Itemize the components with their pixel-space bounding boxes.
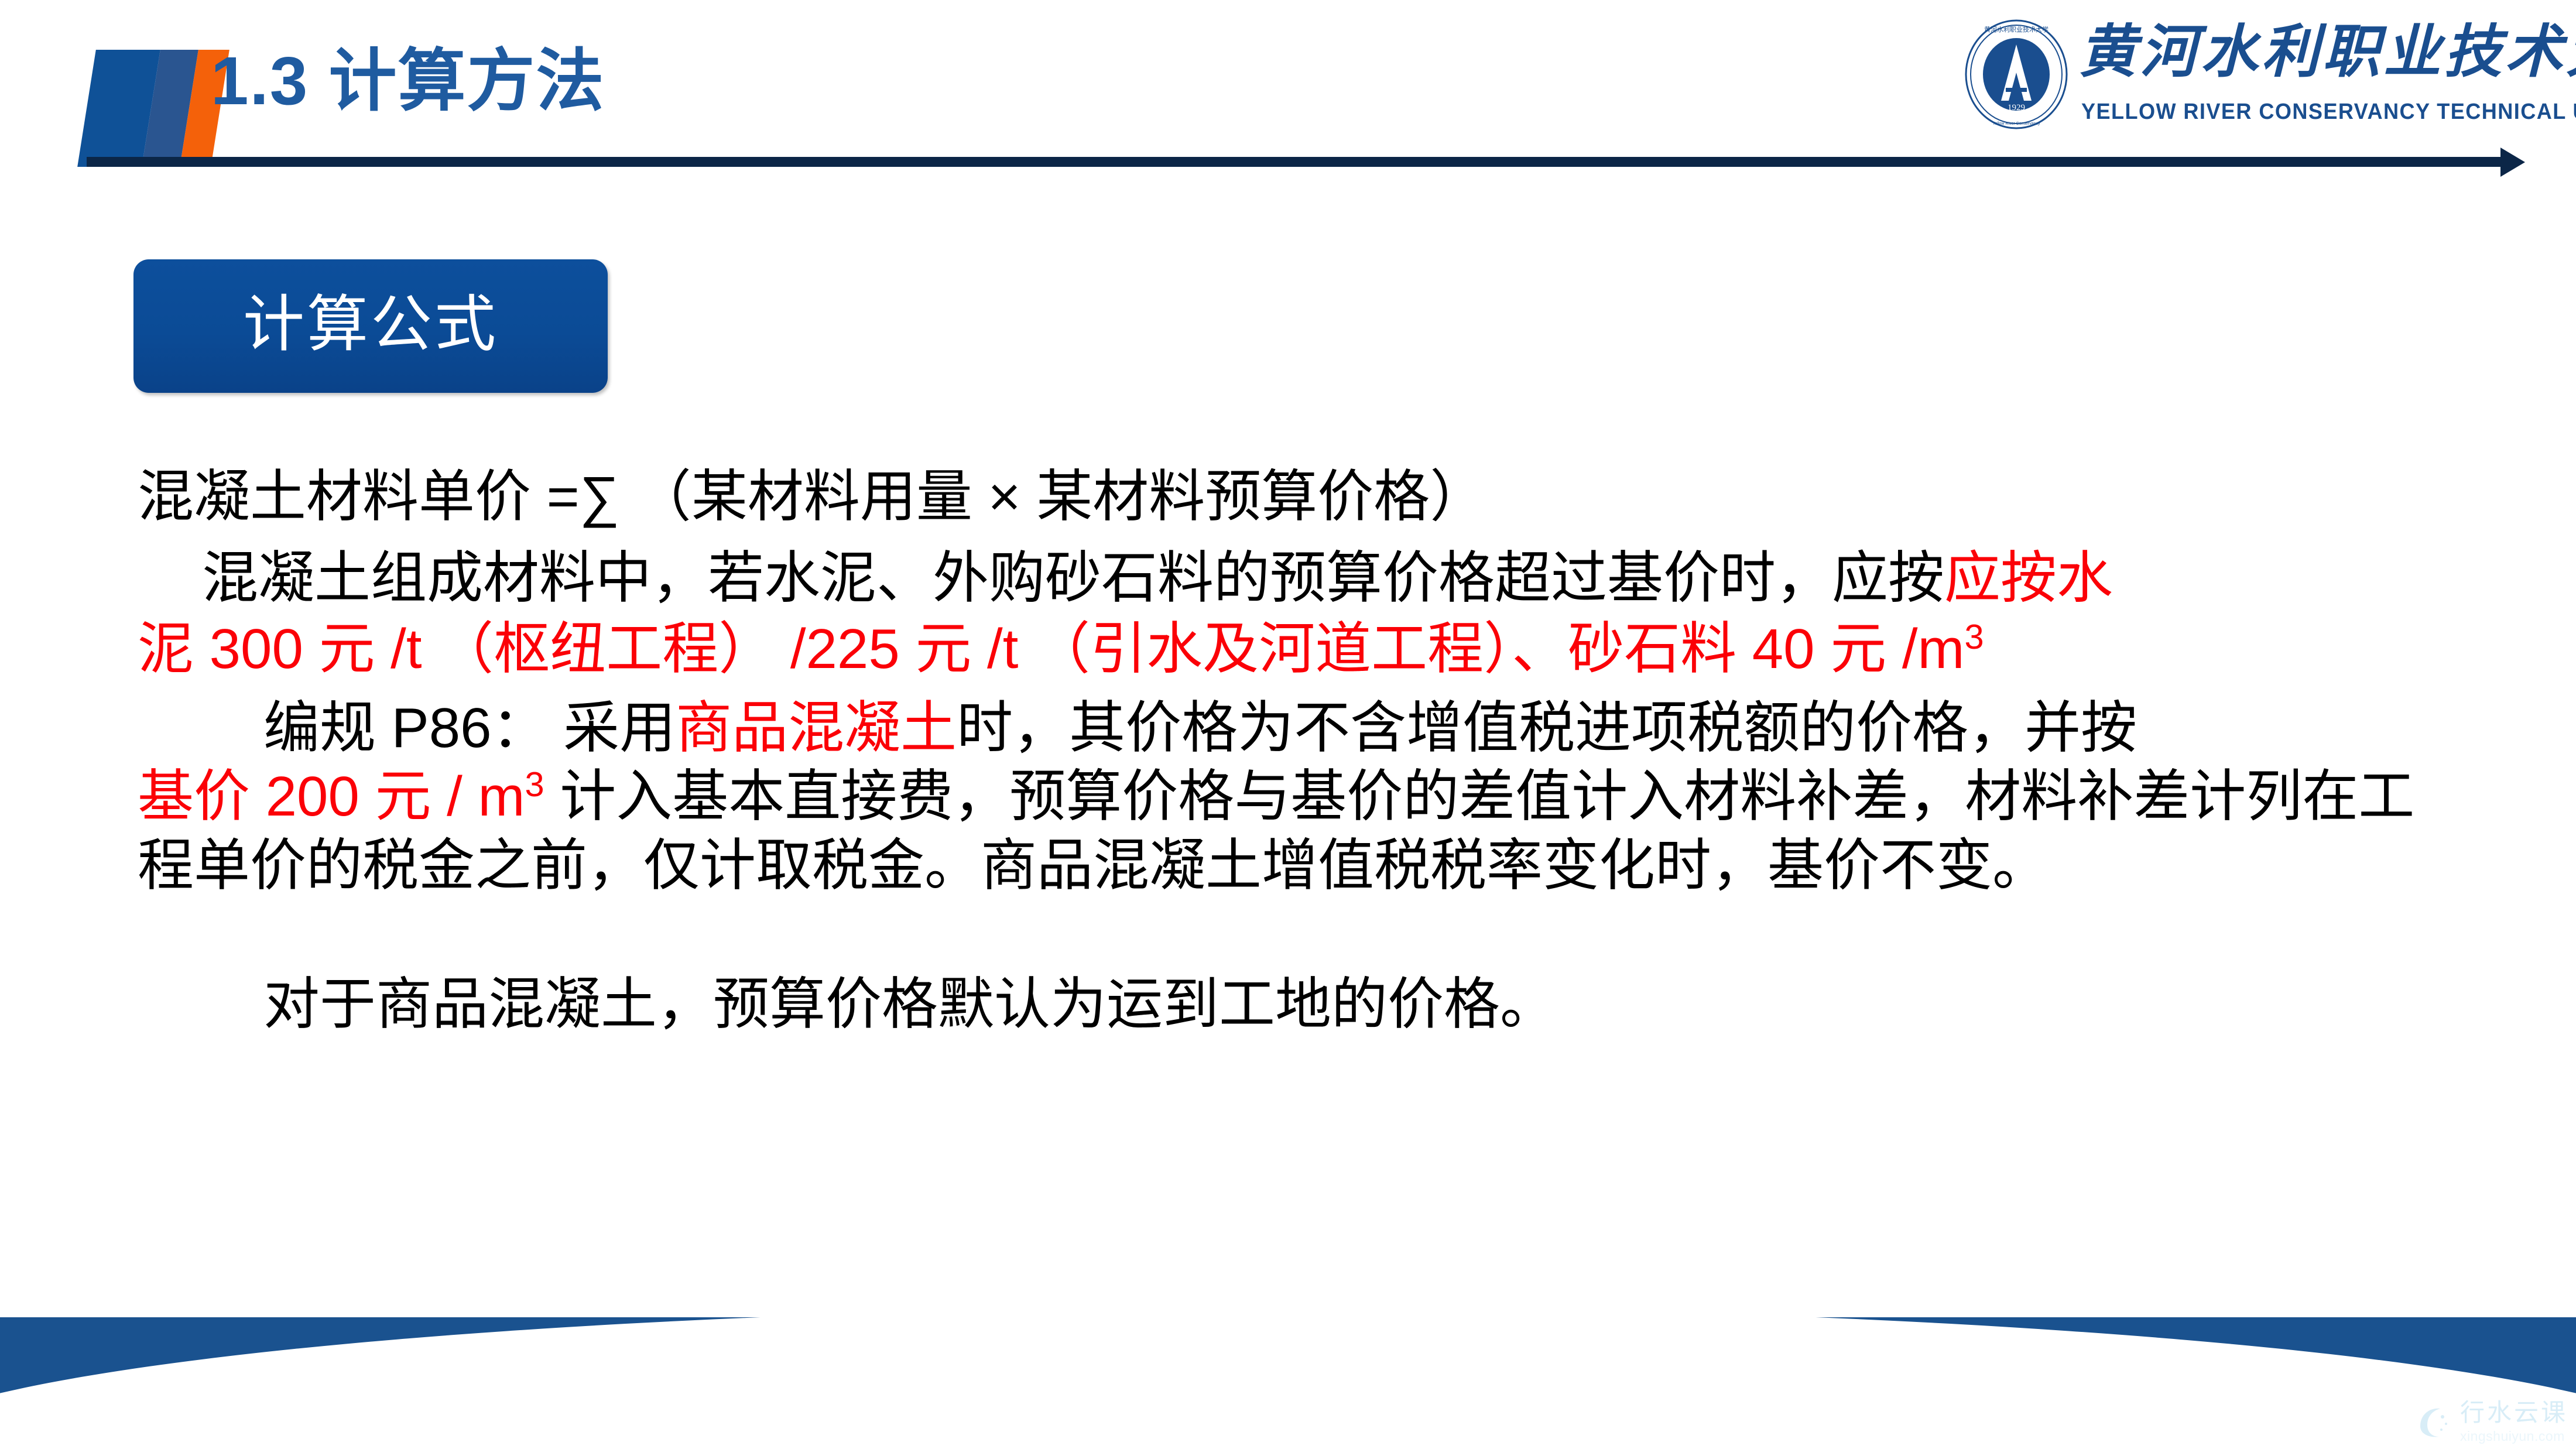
header-divider-rule (87, 157, 2502, 167)
final-note-paragraph: 对于商品混凝土，预算价格默认为运到工地的价格。 (0, 970, 2576, 1039)
slide-body: 混凝土材料单价 =∑ （某材料用量 × 某材料预算价格） 混凝土组成材料中，若水… (0, 463, 2576, 1039)
university-logo: 1929 黄河水利职业技术大学 Yellow River Conservancy… (1964, 19, 2550, 130)
wave-icon (2414, 1402, 2457, 1444)
page-title: 1.3 计算方法 (211, 47, 605, 115)
watermark-label-en: xingshuiyun.com (2460, 1429, 2568, 1444)
slide-canvas: 1.3 计算方法 1929 黄河水利职业技术大学 Yellow River Co… (0, 0, 2576, 1449)
spec-rule-lead: 编规 P86： 采用 (263, 697, 676, 759)
watermark-texts: 行水云课 xingshuiyun.com (2460, 1400, 2568, 1444)
svg-text:Yellow River Conservancy: Yellow River Conservancy (1992, 122, 2040, 126)
base-price-paragraph: 基价 200 元 / m3 计入基本直接费，预算价格与基价的差值计入材料补差，材… (0, 762, 2576, 899)
final-note-text: 对于商品混凝土，预算价格默认为运到工地的价格。 (263, 973, 1556, 1036)
price-rule-superscript: 3 (1965, 617, 1984, 656)
formula-text: 混凝土材料单价 =∑ （某材料用量 × 某材料预算价格） (138, 465, 1486, 528)
right-arrow-icon (2500, 148, 2525, 177)
mix-rule-red-tail: 应按水 (1944, 547, 2113, 609)
base-price-superscript: 3 (525, 765, 544, 804)
mix-rule-paragraph: 混凝土组成材料中，若水泥、外购砂石料的预算价格超过基价时，应按应按水 (0, 544, 2576, 612)
spec-rule-tail: 时，其价格为不含增值税进项税额的价格，并按 (957, 697, 2137, 759)
spec-rule-highlight: 商品混凝土 (676, 697, 957, 759)
university-name-en: YELLOW RIVER CONSERVANCY TECHNICAL UNIVE… (2081, 100, 2576, 125)
university-name-cn: 黄河水利职业技术大学 (2079, 23, 2576, 81)
watermark: 行水云课 xingshuiyun.com (2414, 1400, 2568, 1444)
spec-rule-paragraph: 编规 P86： 采用商品混凝土时，其价格为不含增值税进项税额的价格，并按 (0, 694, 2576, 762)
slide-footer: 行水云课 xingshuiyun.com (0, 1317, 2576, 1449)
mix-rule-black: 混凝土组成材料中，若水泥、外购砂石料的预算价格超过基价时，应按 (202, 547, 1944, 609)
price-rule-text: 泥 300 元 /t （枢纽工程） /225 元 /t （引水及河道工程）、砂石… (138, 618, 1965, 680)
base-price-red-lead: 基价 200 元 / m (138, 765, 525, 828)
svg-text:1929: 1929 (2008, 103, 2025, 112)
watermark-label-cn: 行水云课 (2460, 1400, 2568, 1425)
svg-text:黄河水利职业技术大学: 黄河水利职业技术大学 (1984, 25, 2049, 33)
formula-badge-label: 计算公式 (133, 290, 608, 361)
formula-line: 混凝土材料单价 =∑ （某材料用量 × 某材料预算价格） (0, 463, 2576, 531)
price-rule-paragraph: 泥 300 元 /t （枢纽工程） /225 元 /t （引水及河道工程）、砂石… (0, 615, 2576, 683)
formula-badge: 计算公式 (133, 259, 608, 393)
university-seal-icon: 1929 黄河水利职业技术大学 Yellow River Conservancy (1964, 19, 2068, 130)
